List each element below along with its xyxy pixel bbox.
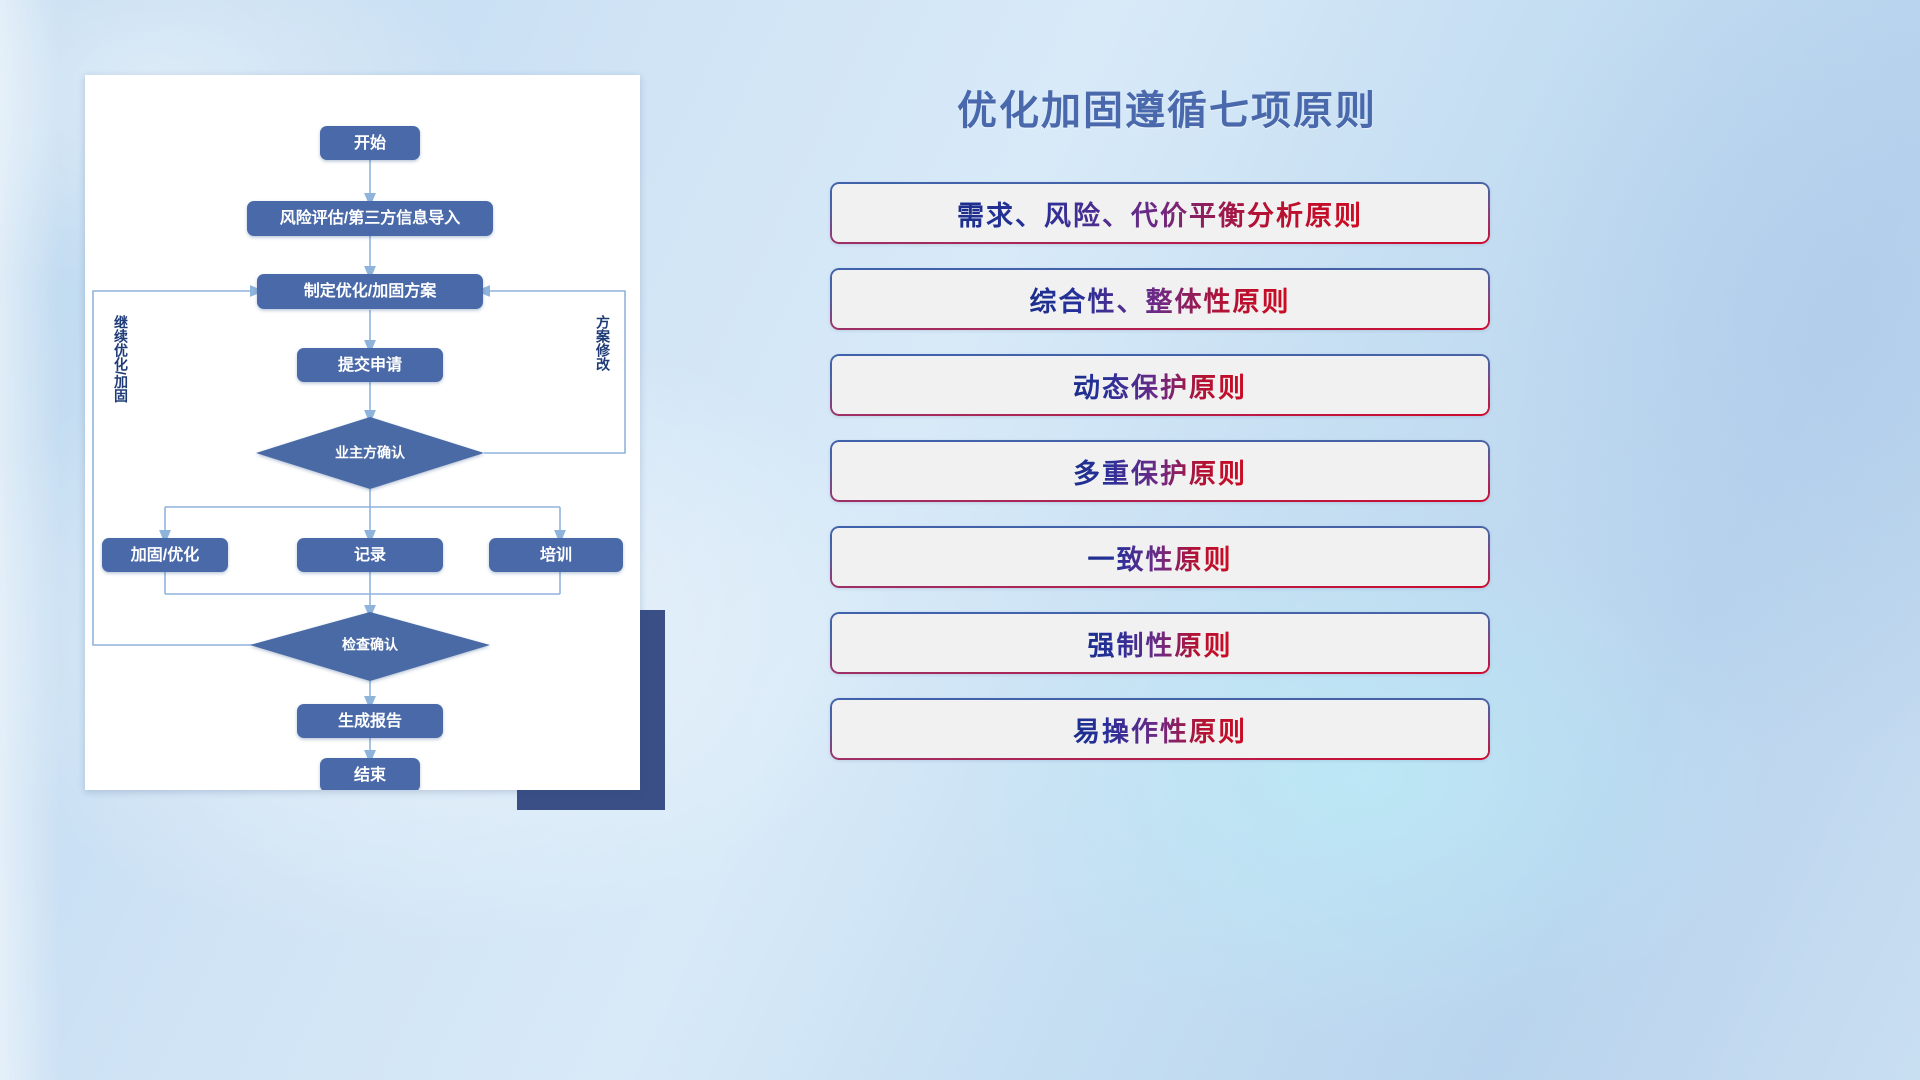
background-edge-highlight [0, 0, 60, 1080]
flowchart-panel: 开始 风险评估/第三方信息导入 制定优化/加固方案 提交申请 业主方确认 加固/… [85, 75, 640, 790]
flow-node-reinforce[interactable]: 加固/优化 [102, 538, 228, 572]
principle-card-3[interactable]: 动态保护原则 [830, 354, 1490, 416]
principle-card-1[interactable]: 需求、风险、代价平衡分析原则 [830, 182, 1490, 244]
flow-node-plan[interactable]: 制定优化/加固方案 [257, 274, 483, 309]
principle-card-5[interactable]: 一致性原则 [830, 526, 1490, 588]
flow-node-record[interactable]: 记录 [297, 538, 443, 572]
flow-node-plan-label: 制定优化/加固方案 [304, 281, 437, 300]
flow-node-end[interactable]: 结束 [320, 758, 420, 790]
flow-node-record-label: 记录 [354, 546, 386, 564]
principle-card-7-label: 易操作性原则 [1073, 710, 1247, 749]
edge-label-continue-optimize: 继续优化/加固 [113, 314, 129, 404]
flow-node-reinforce-label: 加固/优化 [130, 545, 199, 564]
flow-node-submit[interactable]: 提交申请 [297, 348, 443, 382]
principle-card-4-label: 多重保护原则 [1073, 452, 1247, 491]
flow-node-owner-confirm-label: 业主方确认 [335, 445, 406, 461]
flow-node-report[interactable]: 生成报告 [297, 704, 443, 738]
edge-label-plan-revision: 方案修改 [595, 314, 611, 372]
principles-list: 需求、风险、代价平衡分析原则 综合性、整体性原则 动态保护原则 多重保护原则 一… [830, 182, 1490, 760]
principle-card-6[interactable]: 强制性原则 [830, 612, 1490, 674]
flow-node-report-label: 生成报告 [338, 711, 402, 730]
flow-node-risk-label: 风险评估/第三方信息导入 [280, 208, 460, 227]
principle-card-7[interactable]: 易操作性原则 [830, 698, 1490, 760]
flow-node-check-label: 检查确认 [342, 637, 399, 653]
flow-node-submit-label: 提交申请 [338, 355, 402, 374]
flow-node-train-label: 培训 [540, 545, 572, 564]
flow-node-risk[interactable]: 风险评估/第三方信息导入 [247, 201, 493, 236]
principle-card-2-label: 综合性、整体性原则 [1030, 280, 1291, 319]
flowchart-diagram: 开始 风险评估/第三方信息导入 制定优化/加固方案 提交申请 业主方确认 加固/… [85, 75, 640, 790]
flow-node-owner-confirm[interactable]: 业主方确认 [256, 417, 484, 489]
flow-node-end-label: 结束 [353, 765, 387, 784]
principles-section: 优化加固遵循七项原则 需求、风险、代价平衡分析原则 综合性、整体性原则 动态保护… [830, 78, 1490, 760]
flow-node-start[interactable]: 开始 [320, 126, 420, 160]
principle-card-3-label: 动态保护原则 [1073, 366, 1247, 405]
principle-card-1-label: 需求、风险、代价平衡分析原则 [957, 194, 1363, 233]
flow-node-train[interactable]: 培训 [489, 538, 623, 572]
page-title: 优化加固遵循七项原则 [830, 78, 1490, 136]
flow-node-start-label: 开始 [354, 133, 386, 152]
flow-node-check[interactable]: 检查确认 [250, 612, 490, 681]
principle-card-2[interactable]: 综合性、整体性原则 [830, 268, 1490, 330]
principle-card-4[interactable]: 多重保护原则 [830, 440, 1490, 502]
principle-card-5-label: 一致性原则 [1088, 538, 1233, 577]
principle-card-6-label: 强制性原则 [1088, 624, 1233, 663]
